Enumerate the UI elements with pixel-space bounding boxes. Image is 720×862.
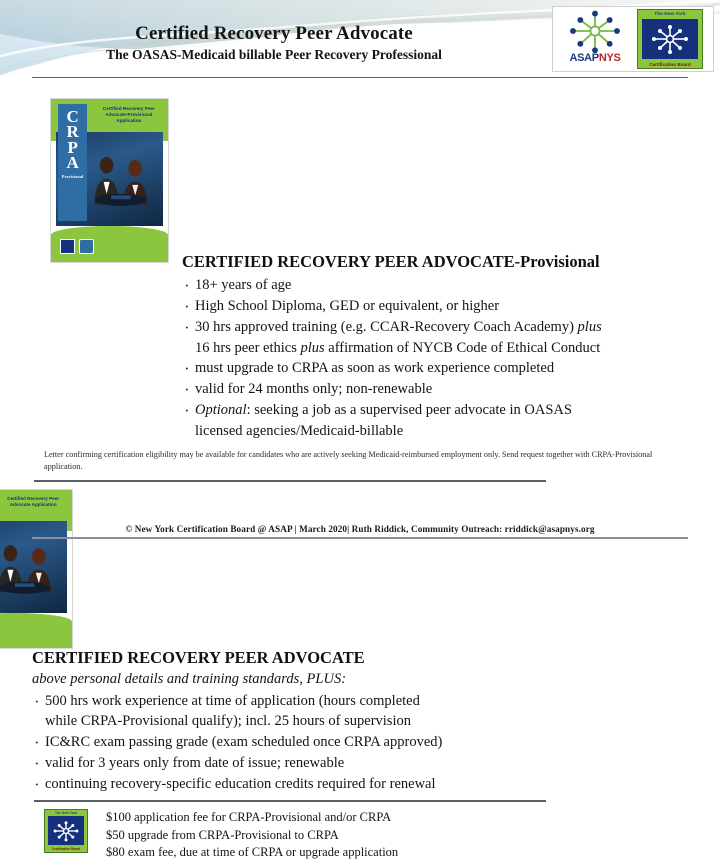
- bullet-text: 16 hrs peer ethics: [195, 340, 301, 356]
- bullet-emphasis: plus: [301, 340, 325, 356]
- cover-people-illustration: [84, 145, 159, 211]
- section-provisional-bullets: 18+ years of age High School Diploma, GE…: [182, 275, 706, 442]
- bullet-text: valid for 24 months only; non-renewable: [195, 381, 432, 397]
- asap-nys-wordmark: ASAPNYS: [569, 53, 620, 64]
- cover-seal-nycb-icon: [60, 239, 75, 254]
- header-divider: [32, 77, 688, 78]
- cover-title-text: Certified Recovery Peer Advocate-Provisi…: [93, 106, 164, 125]
- list-item-continuation: while CRPA-Provisional qualify); incl. 2…: [32, 711, 532, 732]
- asap-starburst-icon: [567, 9, 623, 53]
- list-item: Optional: seeking a job as a supervised …: [182, 400, 706, 421]
- nycb-logo-bottom-label: Certification Board: [649, 62, 690, 67]
- bullet-text: while CRPA-Provisional qualify); incl. 2…: [45, 713, 411, 729]
- bullet-text: IC&RC exam passing grade (exam scheduled…: [45, 734, 442, 750]
- nycb-logo-emblem: [642, 19, 698, 59]
- page-header: Certified Recovery Peer Advocate The OAS…: [0, 0, 720, 78]
- list-item: High School Diploma, GED or equivalent, …: [182, 296, 706, 317]
- section-crpa-heading: CERTIFIED RECOVERY PEER ADVOCATE: [32, 649, 532, 668]
- list-item: valid for 3 years only from date of issu…: [32, 753, 532, 774]
- asap-word: ASAP: [569, 52, 598, 64]
- bullet-text: valid for 3 years only from date of issu…: [45, 755, 344, 771]
- fee-line: $80 exam fee, due at time of CRPA or upg…: [106, 844, 398, 862]
- list-item: 30 hrs approved training (e.g. CCAR-Reco…: [182, 317, 706, 338]
- list-item: continuing recovery-specific education c…: [32, 774, 532, 795]
- fee-line: $100 application fee for CRPA-Provisiona…: [106, 809, 398, 827]
- list-item: 18+ years of age: [182, 275, 706, 296]
- fee-line: $50 upgrade from CRPA-Provisional to CRP…: [106, 827, 398, 845]
- nycb-snowflake-icon: [648, 23, 692, 55]
- asap-nys-logo: ASAPNYS: [553, 7, 637, 71]
- eligibility-note: Letter confirming certification eligibil…: [44, 449, 680, 474]
- brochure-cover-provisional: C R P A Provisional Certified Recovery P…: [50, 98, 169, 263]
- bullet-text: High School Diploma, GED or equivalent, …: [195, 298, 499, 314]
- section-crpa-subheading: above personal details and training stan…: [32, 671, 532, 688]
- fees-logo-top-label: The New York: [55, 811, 77, 815]
- section-crpa-bullets: 500 hrs work experience at time of appli…: [32, 691, 532, 795]
- bullet-text: licensed agencies/Medicaid-billable: [195, 423, 403, 439]
- list-item-continuation: licensed agencies/Medicaid-billable: [182, 421, 706, 442]
- section-provisional-body: CERTIFIED RECOVERY PEER ADVOCATE-Provisi…: [182, 253, 720, 442]
- bullet-text-tail: affirmation of NYCB Code of Ethical Cond…: [325, 340, 601, 356]
- list-item-continuation: 16 hrs peer ethics plus affirmation of N…: [182, 338, 706, 359]
- fees-list: $100 application fee for CRPA-Provisiona…: [106, 809, 398, 862]
- cover-people-illustration: [0, 534, 63, 598]
- section-provisional-heading: CERTIFIED RECOVERY PEER ADVOCATE-Provisi…: [182, 253, 706, 272]
- fees-block: The New York Certification Board $100 ap…: [44, 809, 720, 862]
- nycb-snowflake-icon: [51, 819, 81, 843]
- bullet-text: must upgrade to CRPA as soon as work exp…: [195, 360, 554, 376]
- cover-title-text: Certified Recovery Peer Advocate Applica…: [0, 496, 69, 508]
- nycb-logo: The New York Certification Bo: [637, 9, 703, 69]
- bullet-text: : seeking a job as a supervised peer adv…: [247, 402, 572, 418]
- fees-nycb-logo: The New York Certification Board: [44, 809, 88, 853]
- list-item: IC&RC exam passing grade (exam scheduled…: [32, 732, 532, 753]
- page-subtitle: The OASAS-Medicaid billable Peer Recover…: [0, 48, 548, 63]
- bullet-emphasis: plus: [578, 319, 602, 335]
- cover-seal-asap-icon: [79, 239, 94, 254]
- cover-letter-a: A: [67, 155, 79, 171]
- list-item: valid for 24 months only; non-renewable: [182, 379, 706, 400]
- cover-acronym-block: C R P A Provisional: [58, 104, 87, 221]
- bullet-text: 30 hrs approved training (e.g. CCAR-Reco…: [195, 319, 578, 335]
- bullet-text: continuing recovery-specific education c…: [45, 776, 436, 792]
- cover-green-bottom: [0, 613, 72, 648]
- footer-credit-text: © New York Certification Board @ ASAP | …: [0, 524, 720, 537]
- brochure-cover-crpa: C R P A Certified Recovery Peer Advocate…: [0, 489, 73, 649]
- bullet-text: 500 hrs work experience at time of appli…: [45, 693, 420, 709]
- section-provisional: C R P A Provisional Certified Recovery P…: [0, 78, 720, 482]
- nys-word: NYS: [599, 52, 621, 64]
- bullet-emphasis: Optional: [195, 402, 247, 418]
- section-divider-lower: [34, 800, 546, 802]
- section-crpa-body: CERTIFIED RECOVERY PEER ADVOCATE above p…: [32, 649, 532, 795]
- fees-logo-emblem: [48, 816, 84, 845]
- fees-logo-bottom-label: Certification Board: [52, 847, 81, 851]
- nycb-logo-top-label: The New York: [654, 11, 685, 16]
- cover-provisional-label: Provisional: [62, 175, 83, 179]
- page-title: Certified Recovery Peer Advocate: [0, 24, 548, 45]
- header-logo-group: ASAPNYS The New York: [552, 6, 714, 72]
- cover-seal-group: [60, 239, 94, 254]
- page-footer: © New York Certification Board @ ASAP | …: [0, 524, 720, 539]
- header-title-block: Certified Recovery Peer Advocate The OAS…: [0, 24, 548, 63]
- list-item: must upgrade to CRPA as soon as work exp…: [182, 358, 706, 379]
- bullet-text: 18+ years of age: [195, 277, 291, 293]
- list-item: 500 hrs work experience at time of appli…: [32, 691, 532, 712]
